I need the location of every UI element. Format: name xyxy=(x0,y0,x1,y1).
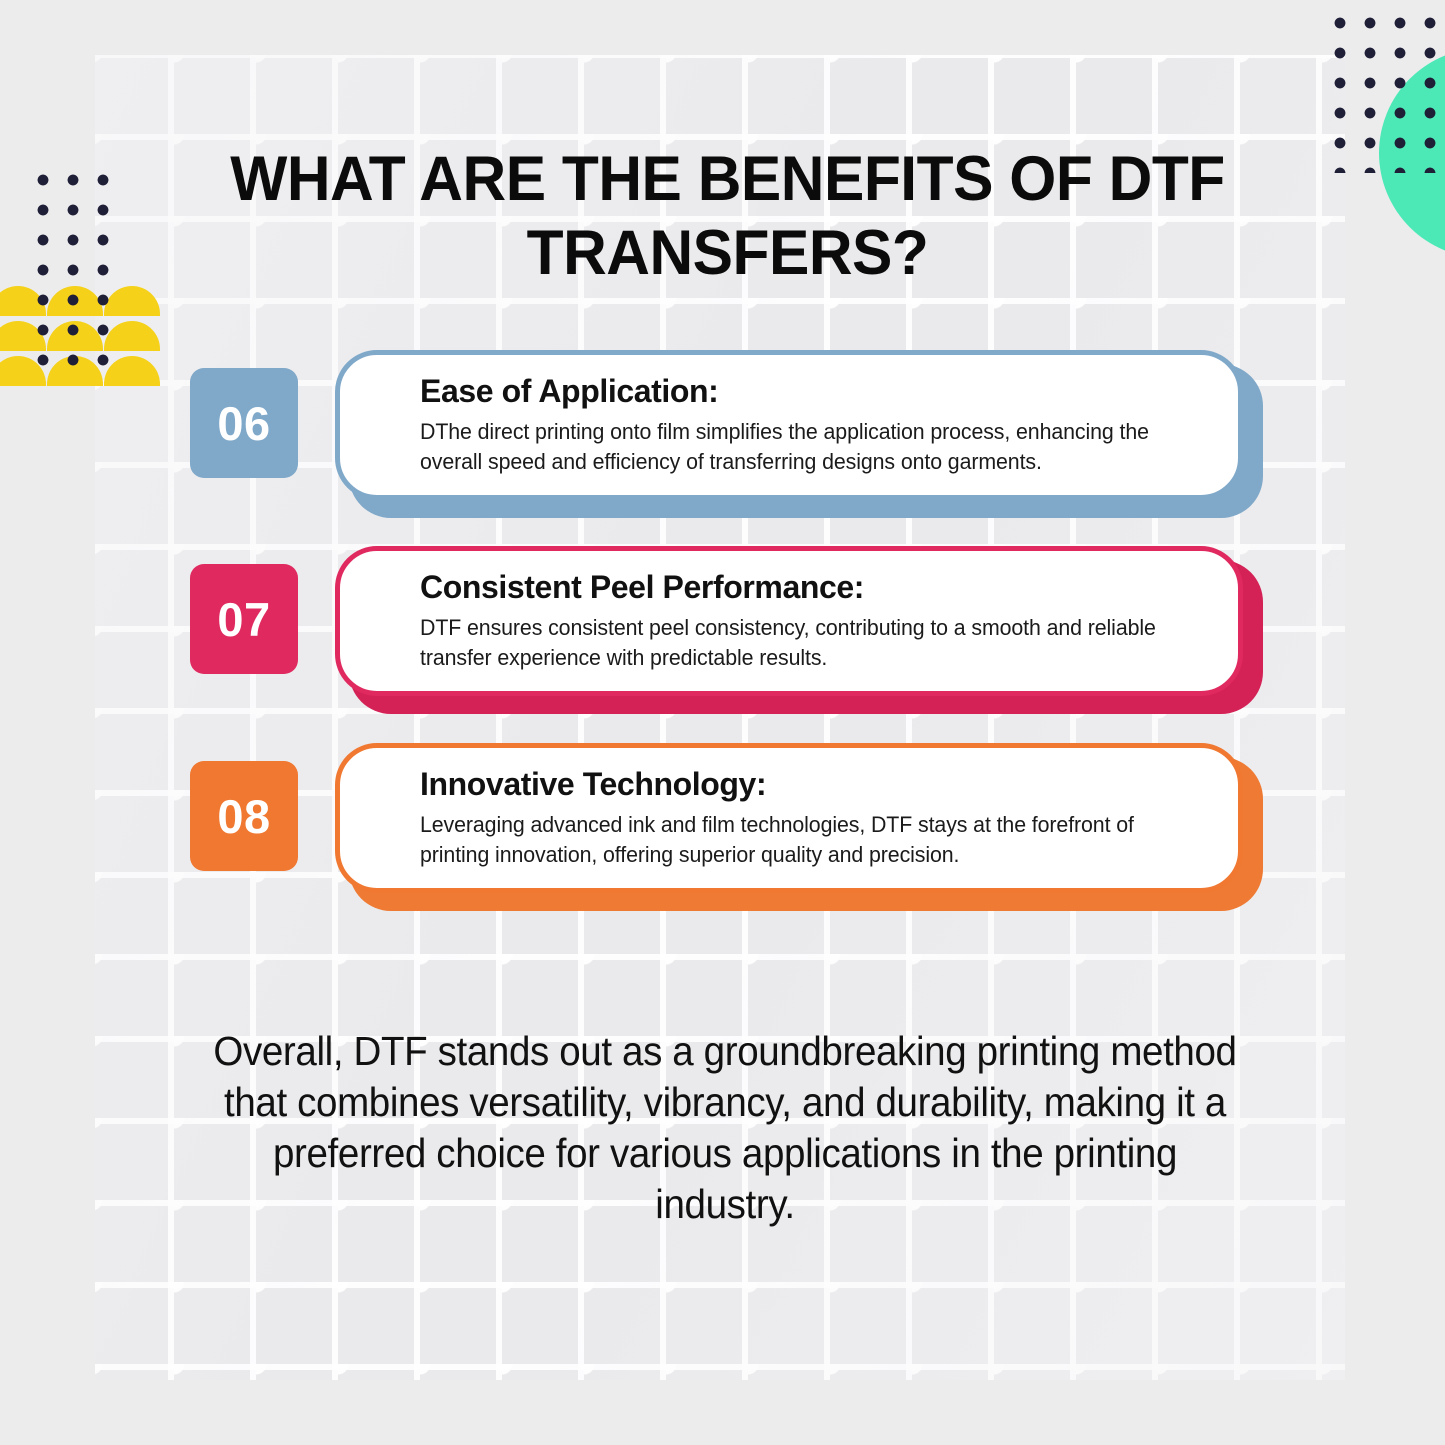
benefit-heading: Innovative Technology: xyxy=(420,764,1208,804)
benefit-card: Consistent Peel Performance: DTF ensures… xyxy=(335,546,1243,696)
summary-paragraph: Overall, DTF stands out as a groundbreak… xyxy=(213,1026,1238,1230)
benefit-card-wrapper: Innovative Technology: Leveraging advanc… xyxy=(335,743,1265,911)
benefit-card-wrapper: Consistent Peel Performance: DTF ensures… xyxy=(335,546,1265,714)
benefit-number-badge: 07 xyxy=(190,564,298,674)
benefit-row-07: 07 Consistent Peel Performance: DTF ensu… xyxy=(190,546,1265,718)
benefit-heading: Consistent Peel Performance: xyxy=(420,567,1208,607)
benefit-row-08: 08 Innovative Technology: Leveraging adv… xyxy=(190,743,1265,915)
benefit-number-badge: 06 xyxy=(190,368,298,478)
benefit-body: DThe direct printing onto film simplifie… xyxy=(420,417,1184,477)
benefit-body: Leveraging advanced ink and film technol… xyxy=(420,810,1184,870)
benefit-heading: Ease of Application: xyxy=(420,371,1208,411)
benefit-card-wrapper: Ease of Application: DThe direct printin… xyxy=(335,350,1265,518)
benefit-card: Ease of Application: DThe direct printin… xyxy=(335,350,1243,500)
benefit-body: DTF ensures consistent peel consistency,… xyxy=(420,613,1184,673)
benefit-row-06: 06 Ease of Application: DThe direct prin… xyxy=(190,350,1265,522)
infographic-canvas: WHAT ARE THE BENEFITS OF DTF TRANSFERS? … xyxy=(0,0,1445,1445)
benefit-card: Innovative Technology: Leveraging advanc… xyxy=(335,743,1243,893)
benefit-number-badge: 08 xyxy=(190,761,298,871)
